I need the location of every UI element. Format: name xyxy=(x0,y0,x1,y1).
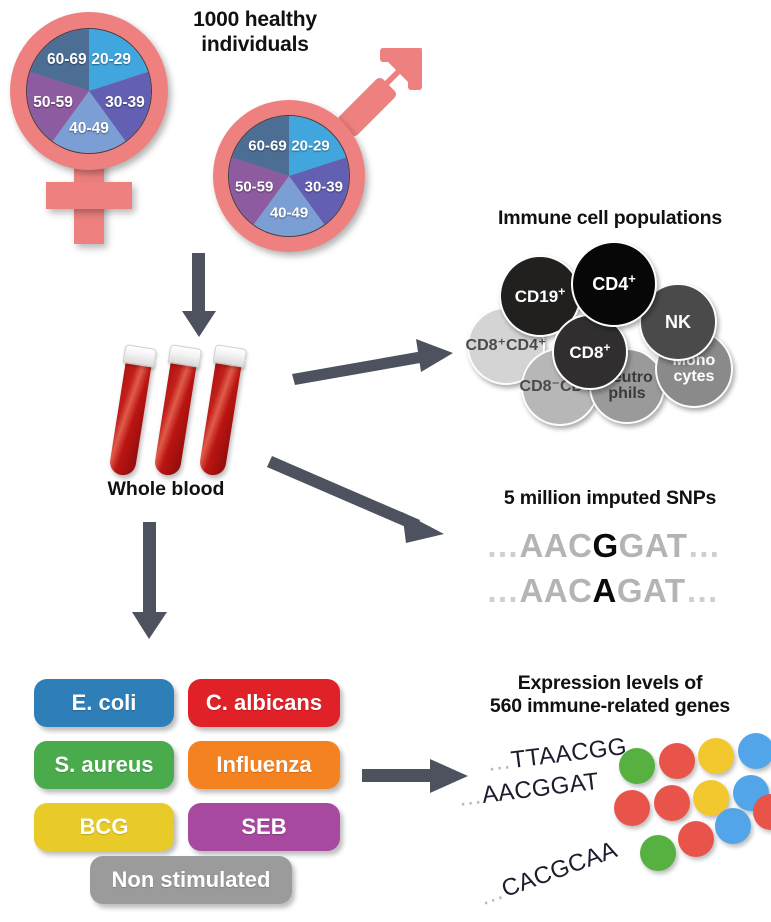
stimulus-influenza[interactable]: Influenza xyxy=(188,741,340,789)
rna-bead xyxy=(678,821,714,857)
rna-ellipsis: … xyxy=(456,782,483,812)
stimulus-label: E. coli xyxy=(72,690,137,716)
pie-slice-label: 50-59 xyxy=(33,94,73,112)
rna-bead xyxy=(654,785,690,821)
rna-sequence-label: …CACGCAA xyxy=(475,836,621,912)
stimulus-label: SEB xyxy=(241,814,286,840)
snp-prefix: AAC xyxy=(520,572,593,609)
snp-highlighted-base: G xyxy=(593,527,619,564)
stimulus-c-albicans[interactable]: C. albicans xyxy=(188,679,340,727)
immune-cell-label: NK xyxy=(662,313,694,331)
rna-sequence-label: …TTAACGG xyxy=(485,733,628,778)
section-title-expression: Expression levels of 560 immune-related … xyxy=(450,672,770,718)
page-title-cohort: 1000 healthy individuals xyxy=(170,8,340,58)
rna-ellipsis: … xyxy=(485,747,512,777)
rna-sequence-label: …AACGGAT xyxy=(456,768,600,813)
figure-canvas: 1000 healthy individuals 20-2930-3940-49… xyxy=(0,0,771,922)
snp-ellipsis-right: … xyxy=(686,572,720,609)
section-title-snps: 5 million imputed SNPs xyxy=(450,487,770,510)
arrow-blood-to-stimuli xyxy=(128,522,172,640)
pie-slice-label: 40-49 xyxy=(69,120,109,138)
rna-bead xyxy=(738,733,771,769)
blood-tube xyxy=(198,345,244,477)
immune-cell-label: CD4+ xyxy=(589,275,639,293)
female-stem-horizontal xyxy=(46,182,132,209)
stimulus-label: Non stimulated xyxy=(112,867,271,893)
pie-slice-label: 30-39 xyxy=(305,179,343,196)
snp-ellipsis-right: … xyxy=(687,527,721,564)
snp-prefix: AAC xyxy=(520,527,593,564)
rna-bead xyxy=(698,738,734,774)
rna-bead xyxy=(715,808,751,844)
stimulus-label: Influenza xyxy=(216,752,311,778)
rna-bead xyxy=(614,790,650,826)
immune-cell-label: CD8+ xyxy=(566,344,613,361)
arrow-stimuli-to-expression xyxy=(362,755,470,797)
blood-tube-body xyxy=(153,356,197,477)
stimulus-seb[interactable]: SEB xyxy=(188,803,340,851)
stimulus-e-coli[interactable]: E. coli xyxy=(34,679,174,727)
pie-slice-label: 60-69 xyxy=(47,51,87,69)
blood-tube xyxy=(108,345,154,477)
arrow-cohort-to-blood xyxy=(178,253,220,339)
rna-bases: CACGCAA xyxy=(498,836,621,903)
snp-ellipsis-left: … xyxy=(486,527,520,564)
arrow-blood-to-snps xyxy=(270,450,450,545)
immune-cell-label: CD19+ xyxy=(512,288,569,305)
stimulus-s-aureus[interactable]: S. aureus xyxy=(34,741,174,789)
section-title-immune: Immune cell populations xyxy=(450,207,770,230)
blood-tube xyxy=(153,345,199,477)
whole-blood-label: Whole blood xyxy=(86,478,246,501)
pie-slice-label: 60-69 xyxy=(248,138,286,155)
stimulus-bcg[interactable]: BCG xyxy=(34,803,174,851)
snp-suffix: GAT xyxy=(619,527,688,564)
stimulus-non-stimulated[interactable]: Non stimulated xyxy=(90,856,292,904)
stimulus-label: S. aureus xyxy=(54,752,153,778)
snp-sequence-row: …AACAGAT… xyxy=(486,572,719,610)
snp-ellipsis-left: … xyxy=(486,572,520,609)
immune-cell-label: CD8⁺CD4⁺ xyxy=(463,338,550,354)
immune-cell-cd4[interactable]: CD4+ xyxy=(571,241,657,327)
snp-highlighted-base: A xyxy=(593,572,617,609)
rna-bases: TTAACGG xyxy=(509,733,628,774)
pie-slice-label: 50-59 xyxy=(235,179,273,196)
rna-bead xyxy=(659,743,695,779)
stimulus-label: BCG xyxy=(80,814,129,840)
arrow-blood-to-immune xyxy=(290,330,455,385)
blood-tube-body xyxy=(198,356,242,477)
pie-slice-label: 20-29 xyxy=(291,138,329,155)
pie-slice-label: 30-39 xyxy=(105,94,145,112)
stimulus-label: C. albicans xyxy=(206,690,322,716)
rna-bead xyxy=(640,835,676,871)
pie-slice-label: 20-29 xyxy=(91,51,131,69)
blood-tube-body xyxy=(108,356,152,477)
snp-suffix: GAT xyxy=(617,572,686,609)
snp-sequence-row: …AACGGAT… xyxy=(486,527,721,565)
pie-slice-label: 40-49 xyxy=(270,204,308,221)
rna-bead xyxy=(619,748,655,784)
